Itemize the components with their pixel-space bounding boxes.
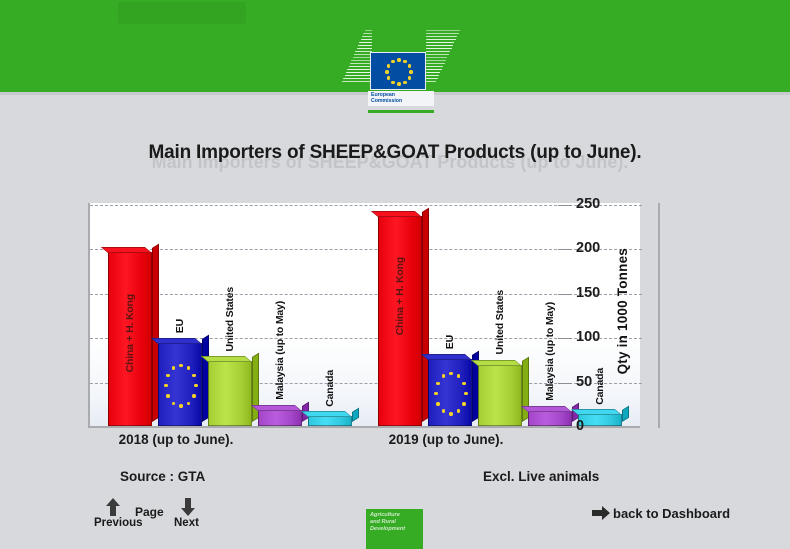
y-axis-tick-label: 200 [576,240,620,256]
y-axis-line [658,203,660,428]
logo-caption-line2: Commission [371,98,431,104]
bar-label-anchor: EU [428,354,472,355]
category-label-2019: 2019 (up to June). [356,432,536,447]
y-axis-tick [558,338,572,339]
bar-label-anchor: Malaysia (up to May) [528,406,572,407]
bar-series-label: United States [224,287,236,352]
bar-face [258,410,302,426]
bar-series-label: United States [494,290,506,355]
bar-series-label: Malaysia (up to May) [544,302,556,401]
chart-bar [478,365,522,426]
logo-caption: European Commission [368,91,434,106]
arrow-up-icon[interactable] [105,498,121,516]
bar-face [528,411,572,426]
chart-bar [158,343,202,426]
agri-logo-line3: Development [370,526,419,533]
bar-top [101,247,152,253]
chart-bar [428,359,472,426]
chart-bar [258,410,302,426]
bar-series-label: Canada [324,370,336,407]
bar-label-anchor: United States [478,360,522,361]
bar-side [622,406,629,422]
logo-underline [368,110,434,113]
chart-bar [528,411,572,426]
chart-bar: China + H. Kong [108,252,152,426]
logo-wave-right [426,30,462,94]
arrow-down-icon[interactable] [180,498,196,516]
y-axis-tick-label: 150 [576,285,620,301]
chart-bar: China + H. Kong [378,216,422,426]
logo-wave-left [338,30,372,94]
back-to-dashboard-button[interactable]: back to Dashboard [613,506,730,521]
european-commission-logo: European Commission [338,30,458,102]
bar-label-anchor: Malaysia (up to May) [258,405,302,406]
bar-label-anchor: United States [208,356,252,357]
y-axis-tick [558,249,572,250]
bar-label-anchor: Canada [308,411,352,412]
y-axis-tick-label: 250 [576,196,620,212]
chart-plot-area: China + H. KongEUUnited StatesMalaysia (… [88,203,640,428]
agri-logo-line2: and Rural [370,519,419,526]
eu-bar-stars [429,360,471,425]
eu-flag-stars [371,53,425,89]
y-axis-tick [558,205,572,206]
bar-series-label: Malaysia (up to May) [274,301,286,400]
exclusion-note: Excl. Live animals [483,469,599,484]
y-axis-title: Qty in 1000 Tonnes [615,248,630,374]
bar-top [371,211,422,217]
y-axis-tick [558,383,572,384]
y-axis-tick [558,294,572,295]
bar-series-label: EU [174,319,186,333]
chart-bar [308,416,352,426]
bar-face [308,416,352,426]
bar-face [208,361,252,426]
eu-flag-icon [370,52,426,90]
y-axis-tick [558,427,572,428]
bar-series-label: China + H. Kong [394,257,406,335]
category-label-2018: 2018 (up to June). [86,432,266,447]
page-label: Page [135,505,164,519]
next-button[interactable]: Next [174,517,199,529]
agri-logo-line1: Agriculture [370,512,419,519]
y-axis-tick-label: 100 [576,329,620,345]
bar-face [478,365,522,426]
bar-face [428,359,472,426]
eu-bar-stars [159,344,201,425]
bar-side [352,408,359,422]
chart-plot-wrapper: China + H. KongEUUnited StatesMalaysia (… [88,203,640,428]
agriculture-rural-development-logo: Agriculture and Rural Development [366,509,423,549]
page-title: Main Importers of SHEEP&GOAT Products (u… [95,140,695,166]
bar-series-label: EU [444,335,456,349]
arrow-right-icon[interactable] [592,506,610,520]
y-axis-tick-label: 50 [576,374,620,390]
y-axis-tick-label: 0 [576,418,620,434]
bar-label-anchor: Canada [578,409,622,410]
bar-face [158,343,202,426]
bar-series-label: China + H. Kong [124,294,136,372]
chart-bar [208,361,252,426]
bar-label-anchor: EU [158,338,202,339]
header-ghost-box [118,2,246,24]
source-note: Source : GTA [120,469,205,484]
